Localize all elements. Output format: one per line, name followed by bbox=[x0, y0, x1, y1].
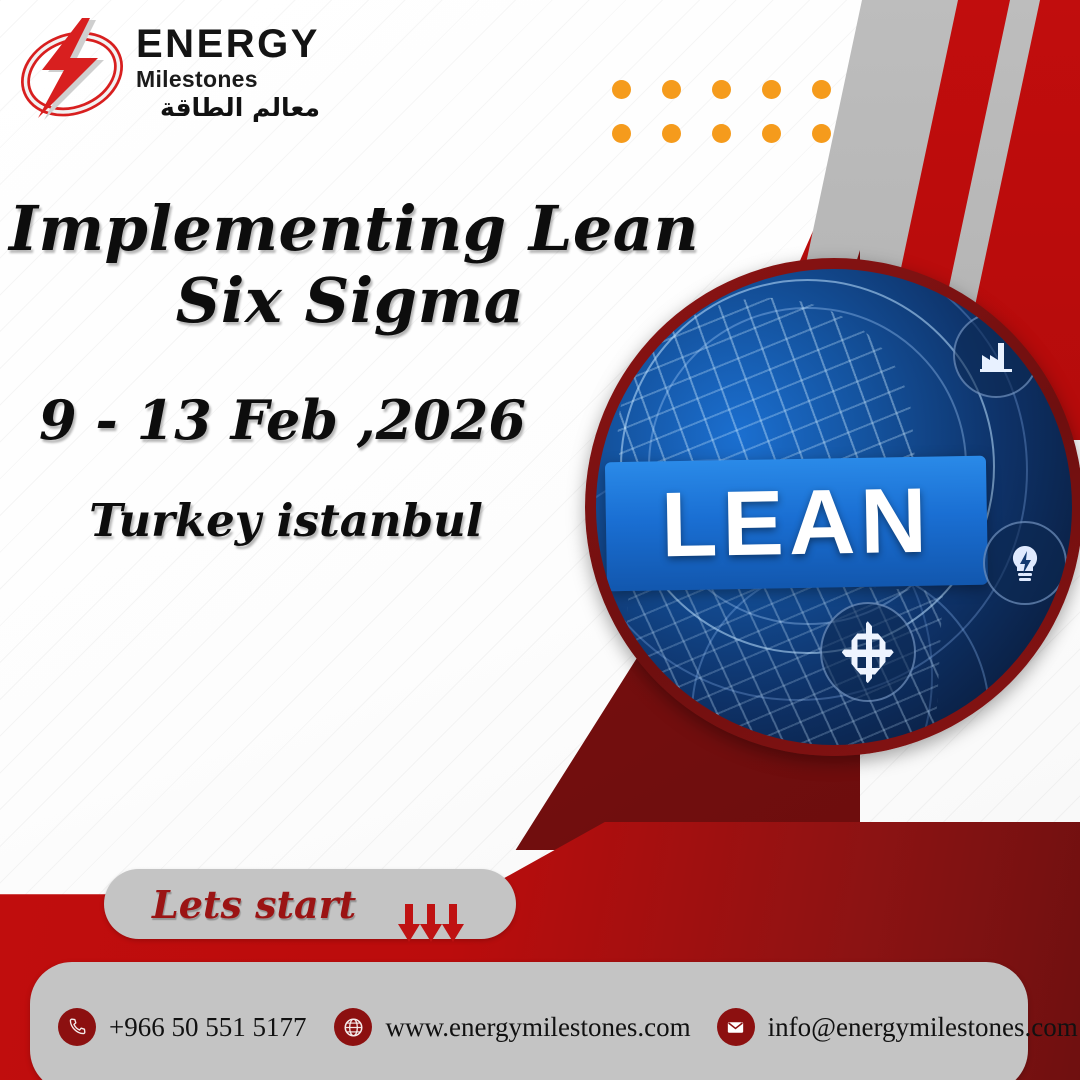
dot-icon bbox=[612, 124, 631, 143]
logo-subtitle-en: Milestones bbox=[136, 68, 320, 91]
dot-icon bbox=[662, 124, 681, 143]
event-location: Turkey istanbul bbox=[0, 494, 572, 547]
globe-icon bbox=[334, 1008, 372, 1046]
headline-block: Implementing Lean Six Sigma 9 - 13 Feb ,… bbox=[0, 196, 700, 547]
contact-website[interactable]: www.energymilestones.com bbox=[334, 1008, 690, 1046]
lightbulb-icon bbox=[983, 521, 1067, 605]
phone-number: +966 50 551 5177 bbox=[109, 1012, 306, 1043]
orange-dot-grid bbox=[612, 80, 862, 168]
poster-canvas: ENERGY Milestones معالم الطاقة Implement… bbox=[0, 0, 1080, 1080]
dot-icon bbox=[712, 124, 731, 143]
lets-start-label: Lets start bbox=[152, 882, 356, 927]
envelope-icon bbox=[717, 1008, 755, 1046]
title-line-1: Implementing Lean bbox=[8, 196, 700, 261]
brand-logo: ENERGY Milestones معالم الطاقة bbox=[18, 14, 320, 126]
maze-chip-icon bbox=[820, 602, 916, 702]
dot-icon bbox=[612, 80, 631, 99]
dot-icon bbox=[762, 124, 781, 143]
contact-email[interactable]: info@energymilestones.com bbox=[717, 1008, 1078, 1046]
phone-icon bbox=[58, 1008, 96, 1046]
event-dates: 9 - 13 Feb ,2026 bbox=[0, 388, 565, 452]
dot-icon bbox=[812, 124, 831, 143]
dot-icon bbox=[812, 80, 831, 99]
title-line-2: Six Sigma bbox=[0, 261, 700, 340]
logo-name-ar: معالم الطاقة bbox=[136, 95, 320, 120]
contact-bar: +966 50 551 5177 www.energymilestones.co… bbox=[30, 962, 1028, 1080]
website-url: www.energymilestones.com bbox=[385, 1012, 690, 1043]
logo-name-en: ENERGY bbox=[136, 24, 320, 64]
maze-chip-pattern bbox=[842, 621, 894, 683]
lightning-bolt-swoosh-icon bbox=[18, 14, 126, 126]
dot-icon bbox=[662, 80, 681, 99]
lean-banner-text: LEAN bbox=[660, 475, 932, 572]
email-address: info@energymilestones.com bbox=[768, 1012, 1078, 1043]
lets-start-button[interactable]: Lets start bbox=[104, 869, 516, 939]
dot-icon bbox=[712, 80, 731, 99]
contact-phone[interactable]: +966 50 551 5177 bbox=[58, 1008, 306, 1046]
dot-icon bbox=[762, 80, 781, 99]
factory-icon bbox=[953, 312, 1039, 398]
